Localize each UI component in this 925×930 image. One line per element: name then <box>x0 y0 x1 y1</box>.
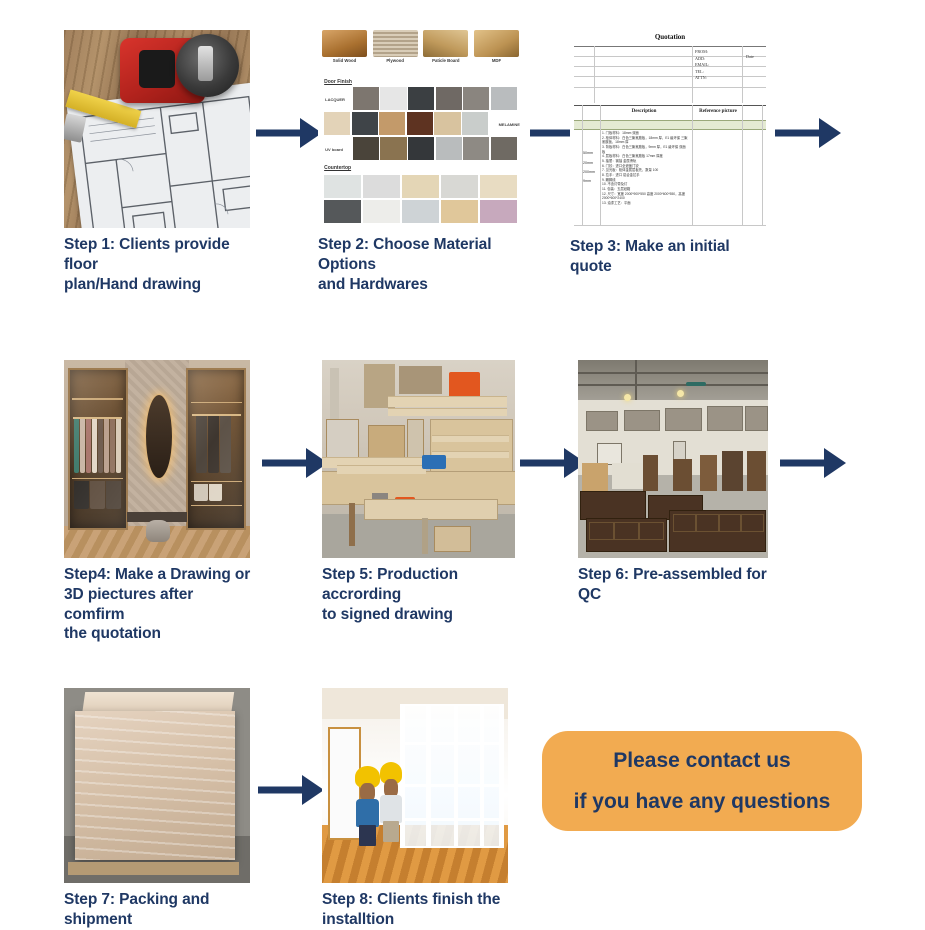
step-4-cell: Step4: Make a Drawing or 3D piectures af… <box>64 360 254 644</box>
step-6-caption: Step 6: Pre-assembled for QC <box>578 565 774 605</box>
arrow-row1-trailing <box>775 118 841 148</box>
swatch-grid-countertop <box>324 175 517 223</box>
process-flow-canvas: Step 1: Clients provide floor plan/Hand … <box>0 0 925 926</box>
floor-plan-with-tape-measure-photo <box>64 30 250 228</box>
row-label-uv-board: UV board <box>325 147 343 152</box>
quotation-spreadsheet-image: Quotation FROM:ADD:EMAIL:TEL:ATTN: Date … <box>570 28 770 230</box>
site-installation-photo <box>322 688 508 883</box>
material-plywood: Plywood <box>373 30 418 74</box>
step-8-cell: Step 8: Clients finish the installtion <box>322 688 512 930</box>
section-label-door-finish: Door Finish <box>324 79 352 85</box>
quotation-meta-right: Date <box>746 54 754 61</box>
arrow-step7-to-step8 <box>258 775 324 805</box>
step-6-cell: Step 6: Pre-assembled for QC <box>578 360 774 605</box>
quotation-column-reference-picture: Reference picture <box>694 109 742 114</box>
step-3-cell: Quotation FROM:ADD:EMAIL:TEL:ATTN: Date … <box>570 28 775 277</box>
step-3-caption: Step 3: Make an initial quote <box>570 237 775 277</box>
section-label-countertop: Countertop <box>324 165 351 171</box>
contact-line-2: if you have any questions <box>574 791 831 812</box>
contact-callout[interactable]: Please contact us if you have any questi… <box>542 731 862 831</box>
quotation-column-description: Description <box>602 109 686 114</box>
swatch-row-lacquer <box>353 87 517 110</box>
material-options-swatch-board-image: Solid Wood Plywood Paticle Board MDF <box>318 28 523 228</box>
step-1-cell: Step 1: Clients provide floor plan/Hand … <box>64 30 254 294</box>
step-7-caption: Step 7: Packing and shipment <box>64 890 254 930</box>
wrapped-pallet-packing-photo <box>64 688 250 883</box>
walk-in-wardrobe-3d-render-image <box>64 360 250 558</box>
arrow-step1-to-step2 <box>256 118 322 148</box>
worker-foreground <box>355 766 379 844</box>
step-5-caption: Step 5: Production accrording to signed … <box>322 565 518 624</box>
step-5-cell: Step 5: Production accrording to signed … <box>322 360 518 624</box>
quotation-title: Quotation <box>606 33 734 41</box>
swatch-row-uv-board <box>353 137 517 160</box>
contact-line-1: Please contact us <box>613 750 790 771</box>
material-particle-board: Paticle Board <box>423 30 468 74</box>
material-mdf: MDF <box>474 30 519 74</box>
step-2-caption: Step 2: Choose Material Options and Hard… <box>318 235 528 294</box>
step-2-cell: Solid Wood Plywood Paticle Board MDF <box>318 28 528 294</box>
row-label-lacquer: LACQUER <box>325 97 345 102</box>
swatch-row-melamine <box>324 112 488 135</box>
row-label-melamine: MELAMINE <box>499 122 520 127</box>
quotation-meta-fields: FROM:ADD:EMAIL:TEL:ATTN: <box>695 49 709 82</box>
step-1-caption: Step 1: Clients provide floor plan/Hand … <box>64 235 254 294</box>
step-4-caption: Step4: Make a Drawing or 3D piectures af… <box>64 565 254 644</box>
step-7-cell: Step 7: Packing and shipment <box>64 688 254 930</box>
arrow-row2-trailing <box>780 448 846 478</box>
woodworking-workshop-photo <box>322 360 515 558</box>
worker-background <box>380 762 402 840</box>
warehouse-preassembly-photo <box>578 360 768 558</box>
quotation-body-text: 1. 门板材料：18mm 双面 2. 柜体材料：白色三聚氰胺板，18mm 厚，E… <box>602 131 688 206</box>
material-solid-wood: Solid Wood <box>322 30 367 74</box>
quotation-row-labels: 50mm20mm200mm9mm <box>583 149 595 186</box>
arrow-step4-to-step5 <box>262 448 328 478</box>
step-8-caption: Step 8: Clients finish the installtion <box>322 890 512 930</box>
arrow-step5-to-step6 <box>520 448 586 478</box>
